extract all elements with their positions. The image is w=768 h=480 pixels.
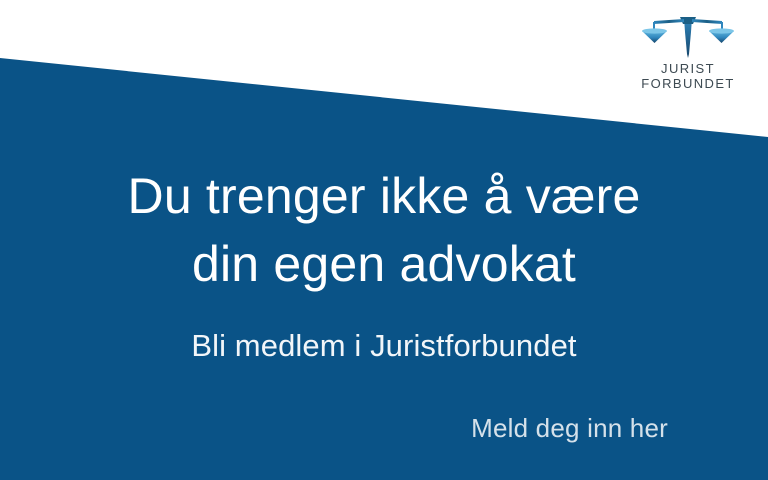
headline-line-2: din egen advokat xyxy=(0,230,768,298)
logo-wordmark: JURIST FORBUNDET xyxy=(622,61,754,92)
advertisement-banner[interactable]: JURIST FORBUNDET Du trenger ikke å være … xyxy=(0,0,768,480)
signup-cta-link[interactable]: Meld deg inn her xyxy=(471,411,668,445)
scales-of-justice-icon xyxy=(640,12,736,58)
headline-line-1: Du trenger ikke å være xyxy=(0,162,768,230)
logo-wordmark-line1: JURIST xyxy=(622,61,754,76)
brand-logo[interactable]: JURIST FORBUNDET xyxy=(622,12,754,92)
headline: Du trenger ikke å være din egen advokat xyxy=(0,162,768,298)
subtitle: Bli medlem i Juristforbundet xyxy=(0,326,768,366)
logo-wordmark-line2: FORBUNDET xyxy=(622,76,754,91)
